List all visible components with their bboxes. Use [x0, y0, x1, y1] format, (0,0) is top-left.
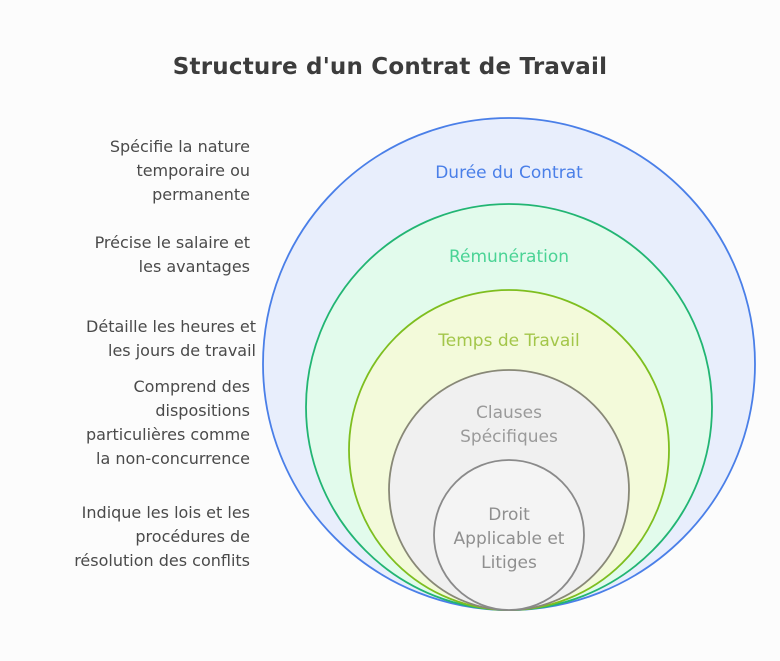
note-clauses: Comprend des dispositions particulières …: [24, 375, 250, 471]
note-duree: Spécifie la nature temporaire ou permane…: [24, 135, 250, 207]
note-droit: Indique les lois et les procédures de ré…: [24, 501, 250, 573]
circle-droit-applicable: [434, 460, 584, 610]
note-remuneration: Précise le salaire et les avantages: [24, 231, 250, 279]
note-temps: Détaille les heures et les jours de trav…: [24, 315, 256, 363]
diagram-canvas: Structure d'un Contrat de Travail Durée …: [0, 0, 780, 661]
